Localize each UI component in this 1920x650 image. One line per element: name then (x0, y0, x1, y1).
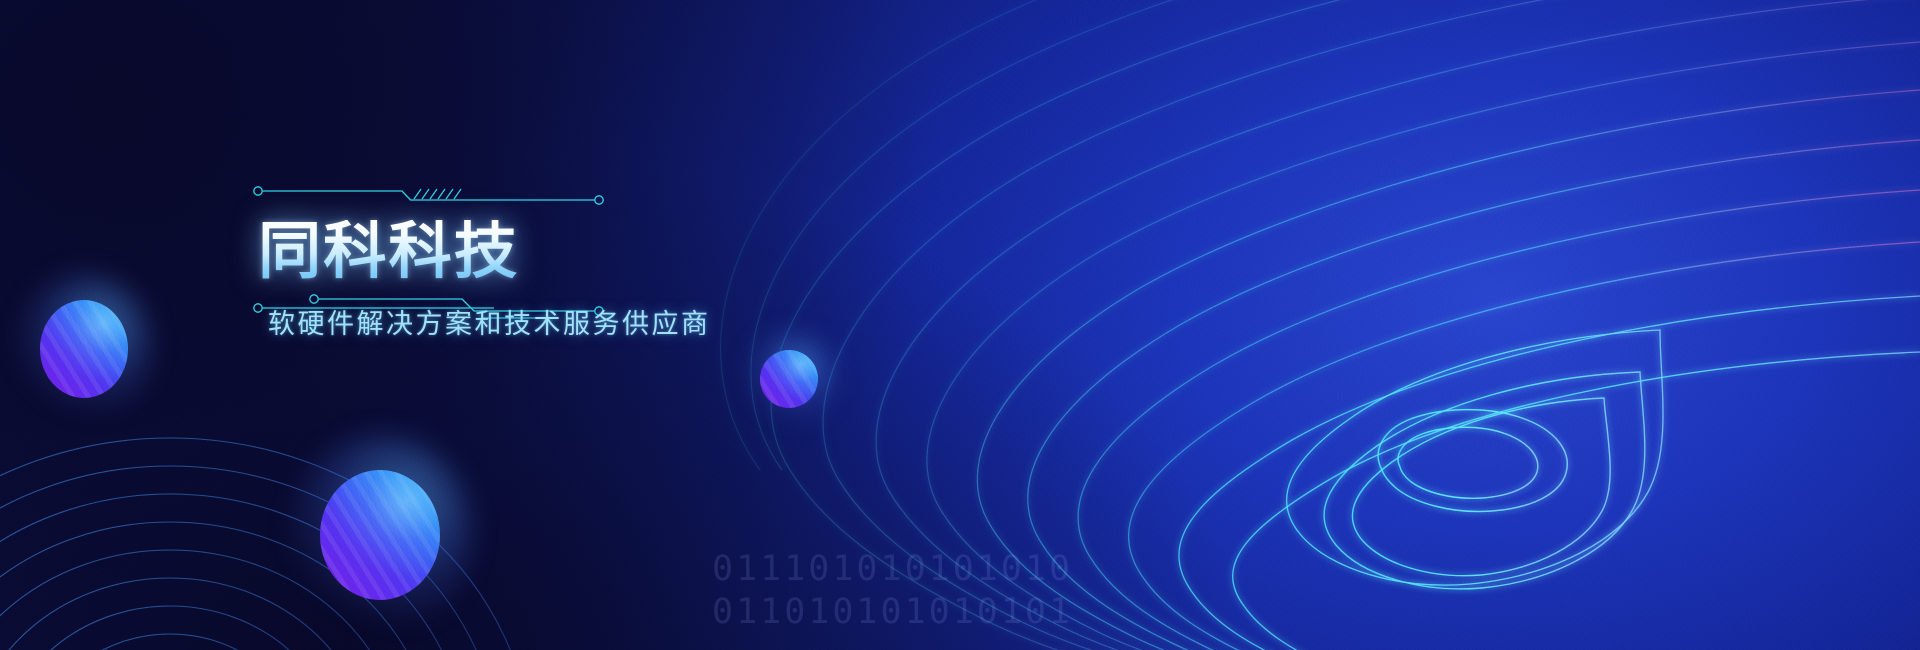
brand-title: 同科科技 (258, 220, 519, 282)
brand-tagline: 软硬件解决方案和技术服务供应商 (268, 302, 711, 341)
hero-banner: 011101010101010 011010101010101 (0, 0, 1920, 650)
circle-node (254, 187, 262, 195)
circle-node (595, 196, 603, 204)
circle-node (254, 304, 262, 312)
top-circuit-rule (250, 178, 730, 214)
